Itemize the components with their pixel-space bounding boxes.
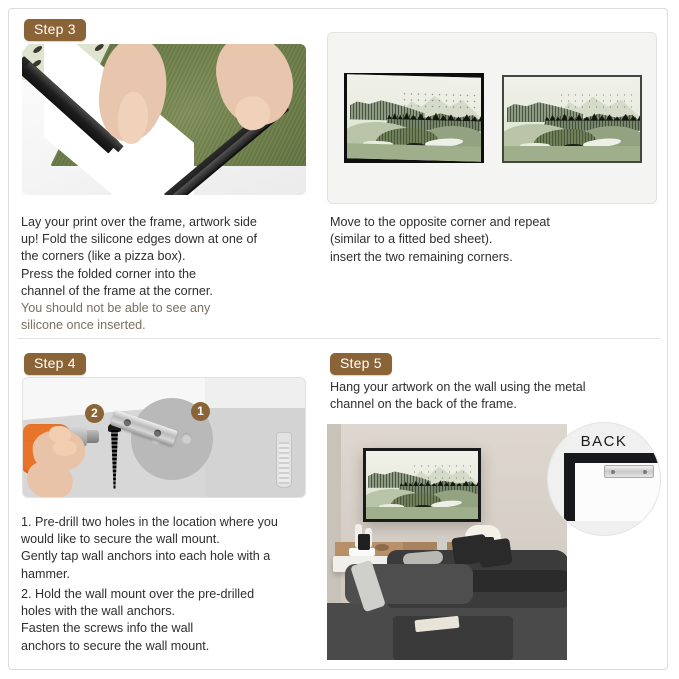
pre-drilled-hole-2 bbox=[181, 433, 192, 444]
step-3-badge: Step 3 bbox=[24, 19, 86, 41]
framed-print-loose bbox=[344, 73, 484, 163]
instruction-sheet: Step 3 bbox=[0, 0, 679, 679]
artwork-on-wall bbox=[366, 451, 478, 519]
frame-back-left-edge bbox=[564, 453, 575, 521]
frame-back-top-edge bbox=[564, 453, 660, 463]
artwork-finished bbox=[504, 77, 640, 161]
callout-number-2: 2 bbox=[85, 404, 104, 423]
decor-object bbox=[358, 534, 370, 550]
hung-artwork bbox=[363, 448, 481, 522]
wall-anchor bbox=[276, 432, 292, 488]
sofa-cushion-2 bbox=[477, 538, 512, 568]
step-4-badge: Step 4 bbox=[24, 353, 86, 375]
step-3-right-text-1: Move to the opposite corner and repeat (… bbox=[330, 214, 650, 248]
finger-2 bbox=[53, 440, 77, 456]
step-3-right-panel bbox=[327, 32, 657, 204]
step-4-text-1: 1. Pre-drill two holes in the location w… bbox=[21, 514, 321, 583]
artwork-loose bbox=[347, 74, 481, 162]
step-5-badge: Step 5 bbox=[330, 353, 392, 375]
step-3-left-text-1: Lay your print over the frame, artwork s… bbox=[21, 214, 321, 266]
framed-print-finished bbox=[502, 75, 642, 163]
back-detail-callout: BACK bbox=[548, 423, 660, 535]
callout-number-1: 1 bbox=[191, 402, 210, 421]
section-divider bbox=[18, 338, 660, 339]
step-3-left-photo bbox=[22, 44, 306, 195]
step-3-right-text-2: insert the two remaining corners. bbox=[330, 249, 650, 266]
step-5-room-photo bbox=[327, 424, 567, 660]
back-label: BACK bbox=[548, 433, 660, 450]
step-4-text-2: 2. Hold the wall mount over the pre-dril… bbox=[21, 586, 321, 655]
step-4-illustration: 1 2 bbox=[22, 377, 306, 498]
step-5-text: Hang your artwork on the wall using the … bbox=[330, 379, 650, 413]
step-3-left-text-3: You should not be able to see any silico… bbox=[21, 300, 321, 334]
metal-channel-mount bbox=[604, 465, 654, 478]
decor-bowl bbox=[375, 544, 389, 551]
room-wall-left bbox=[327, 424, 341, 608]
step-3-left-text-2: Press the folded corner into the channel… bbox=[21, 266, 321, 300]
